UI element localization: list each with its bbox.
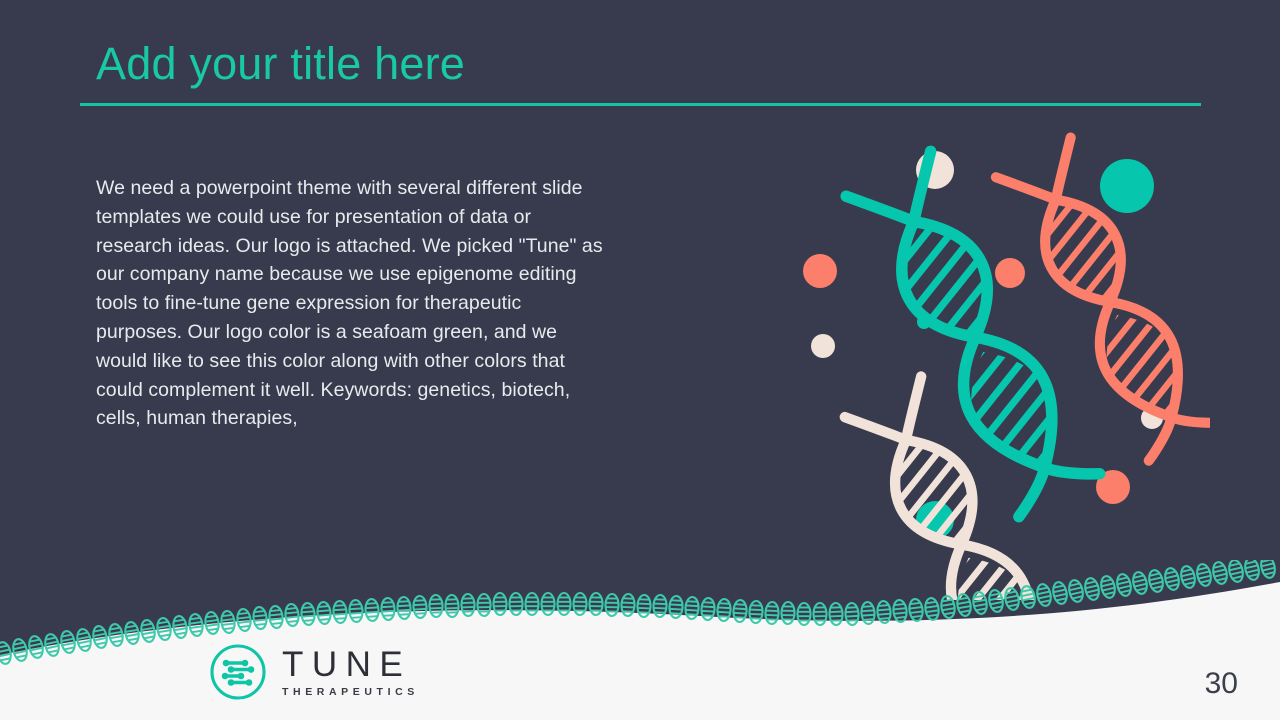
footer-wave-decoration: [0, 560, 1280, 720]
dna-helix-cluster-illustration: [770, 130, 1210, 600]
dot-coral-mid: [995, 258, 1025, 288]
title-underline-rule: [80, 103, 1201, 106]
tune-gene-slider-circle-icon: [208, 642, 268, 702]
dot-teal-large: [1100, 159, 1154, 213]
page-title[interactable]: Add your title here: [96, 40, 1201, 87]
logo-tagline: THERAPEUTICS: [282, 685, 419, 699]
title-block: Add your title here: [96, 40, 1201, 87]
slide-canvas: Add your title here We need a powerpoint…: [0, 0, 1280, 720]
page-number: 30: [1205, 668, 1238, 700]
dot-coral-left: [803, 254, 837, 288]
footer-panel: [0, 582, 1280, 720]
logo-wordmark-group: TUNE THERAPEUTICS: [282, 646, 419, 699]
brand-logo[interactable]: TUNE THERAPEUTICS: [208, 641, 423, 703]
dot-cream-left: [811, 334, 835, 358]
body-text[interactable]: We need a powerpoint theme with several …: [96, 174, 611, 433]
logo-wordmark: TUNE: [282, 648, 419, 682]
